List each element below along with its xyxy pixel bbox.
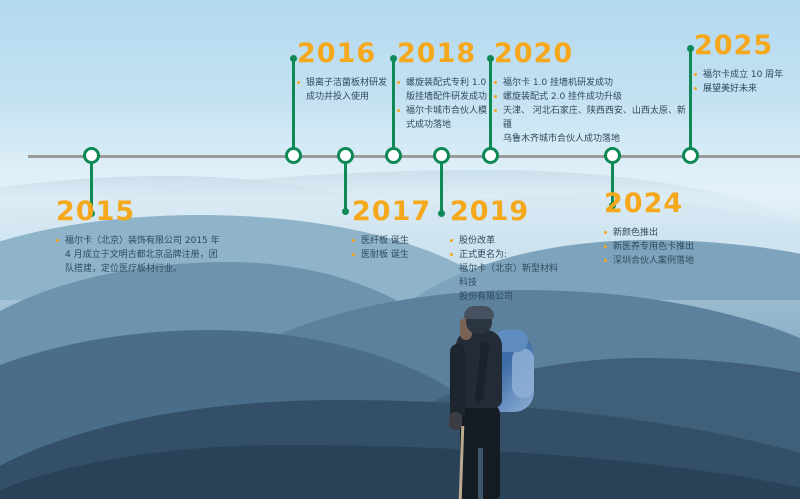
bullet-item: 福尔卡（北京）装饰有限公司 2015 年 xyxy=(56,234,231,248)
entry-bullets-2019: 股份改革 正式更名为: 福尔卡（北京）新型材料科技 股份有限公司 xyxy=(450,234,560,304)
timeline-entry-2024[interactable]: 2024 新颜色推出 新医养专用色卡推出 深圳合伙人案例落地 xyxy=(604,190,724,268)
bullet-item: 正式更名为: xyxy=(450,248,560,262)
bullet-item: 式成功落地 xyxy=(397,118,497,132)
bullet-item: 福尔卡成立 10 周年 xyxy=(694,68,794,82)
bullet-item: 成功并投入使用 xyxy=(297,90,392,104)
bullet-item: 螺旋装配式 2.0 挂件成功升级 xyxy=(494,90,689,104)
entry-year-2025: 2025 xyxy=(694,32,794,59)
entry-year-2024: 2024 xyxy=(604,190,724,217)
timeline-node-2015[interactable] xyxy=(83,147,100,164)
bullet-item: 福尔卡（北京）新型材料科技 xyxy=(450,262,560,290)
bullet-item: 4 月成立于文明古都北京品牌注册，团 xyxy=(56,248,231,262)
bullet-item: 乌鲁木齐城市合伙人成功落地 xyxy=(494,132,689,146)
timeline-entry-2019[interactable]: 2019 股份改革 正式更名为: 福尔卡（北京）新型材料科技 股份有限公司 xyxy=(450,198,560,304)
timeline-stem-2018 xyxy=(392,58,395,150)
timeline-entry-2018[interactable]: 2018 螺旋装配式专利 1.0 版挂墙配件研发成功 福尔卡城市合伙人模 式成功… xyxy=(397,40,497,132)
timeline-entry-2017[interactable]: 2017 医纤板 诞生 医耐板 诞生 xyxy=(352,198,442,262)
entry-year-2020: 2020 xyxy=(494,40,689,67)
bullet-item: 展望美好未来 xyxy=(694,82,794,96)
timeline-stem-dot-2016 xyxy=(290,55,297,62)
bullet-item: 新颜色推出 xyxy=(604,226,724,240)
backpack-side-pocket xyxy=(512,348,534,398)
entry-year-2016: 2016 xyxy=(297,40,392,67)
bullet-item: 医耐板 诞生 xyxy=(352,248,442,262)
bullet-item: 福尔卡 1.0 挂墙机研发成功 xyxy=(494,76,689,90)
entry-bullets-2017: 医纤板 诞生 医耐板 诞生 xyxy=(352,234,442,262)
bullet-item: 银离子洁菌板材研发 xyxy=(297,76,392,90)
bullet-item: 股份有限公司 xyxy=(450,290,560,304)
timeline-node-2024[interactable] xyxy=(604,147,621,164)
bullet-item: 天津、 河北石家庄、陕西西安、山西太原、新疆 xyxy=(494,104,689,132)
timeline-stem-2016 xyxy=(292,58,295,150)
entry-bullets-2016: 银离子洁菌板材研发 成功并投入使用 xyxy=(297,76,392,104)
timeline-stem-2025 xyxy=(689,48,692,150)
hiker-leg-gap xyxy=(478,448,483,499)
timeline-entry-2025[interactable]: 2025 福尔卡成立 10 周年 展望美好未来 xyxy=(694,32,794,96)
hiker-arm xyxy=(450,344,465,420)
bullet-item: 螺旋装配式专利 1.0 xyxy=(397,76,497,90)
bullet-item: 福尔卡城市合伙人模 xyxy=(397,104,497,118)
entry-bullets-2020: 福尔卡 1.0 挂墙机研发成功 螺旋装配式 2.0 挂件成功升级 天津、 河北石… xyxy=(494,76,689,146)
bullet-item: 队搭建，定位医疗板材行业。 xyxy=(56,262,231,276)
hiker-cap xyxy=(464,306,494,319)
timeline-entry-2020[interactable]: 2020 福尔卡 1.0 挂墙机研发成功 螺旋装配式 2.0 挂件成功升级 天津… xyxy=(494,40,689,146)
hiker-silhouette xyxy=(432,308,542,499)
timeline-stem-2017 xyxy=(344,163,347,211)
timeline-node-2017[interactable] xyxy=(337,147,354,164)
entry-bullets-2024: 新颜色推出 新医养专用色卡推出 深圳合伙人案例落地 xyxy=(604,226,724,268)
bullet-item: 新医养专用色卡推出 xyxy=(604,240,724,254)
timeline-stem-dot-2017 xyxy=(342,208,349,215)
entry-year-2018: 2018 xyxy=(397,40,497,67)
entry-bullets-2015: 福尔卡（北京）装饰有限公司 2015 年 4 月成立于文明古都北京品牌注册，团 … xyxy=(56,234,231,276)
bullet-item: 股份改革 xyxy=(450,234,560,248)
bullet-item: 版挂墙配件研发成功 xyxy=(397,90,497,104)
bullet-item: 深圳合伙人案例落地 xyxy=(604,254,724,268)
entry-year-2019: 2019 xyxy=(450,198,560,225)
hiker-hand xyxy=(449,412,462,430)
entry-bullets-2025: 福尔卡成立 10 周年 展望美好未来 xyxy=(694,68,794,96)
entry-year-2015: 2015 xyxy=(56,198,231,225)
entry-year-2017: 2017 xyxy=(352,198,442,225)
timeline-entry-2016[interactable]: 2016 银离子洁菌板材研发 成功并投入使用 xyxy=(297,40,392,104)
timeline-node-2019[interactable] xyxy=(433,147,450,164)
bullet-item: 医纤板 诞生 xyxy=(352,234,442,248)
entry-bullets-2018: 螺旋装配式专利 1.0 版挂墙配件研发成功 福尔卡城市合伙人模 式成功落地 xyxy=(397,76,497,132)
timeline-entry-2015[interactable]: 2015 福尔卡（北京）装饰有限公司 2015 年 4 月成立于文明古都北京品牌… xyxy=(56,198,231,276)
